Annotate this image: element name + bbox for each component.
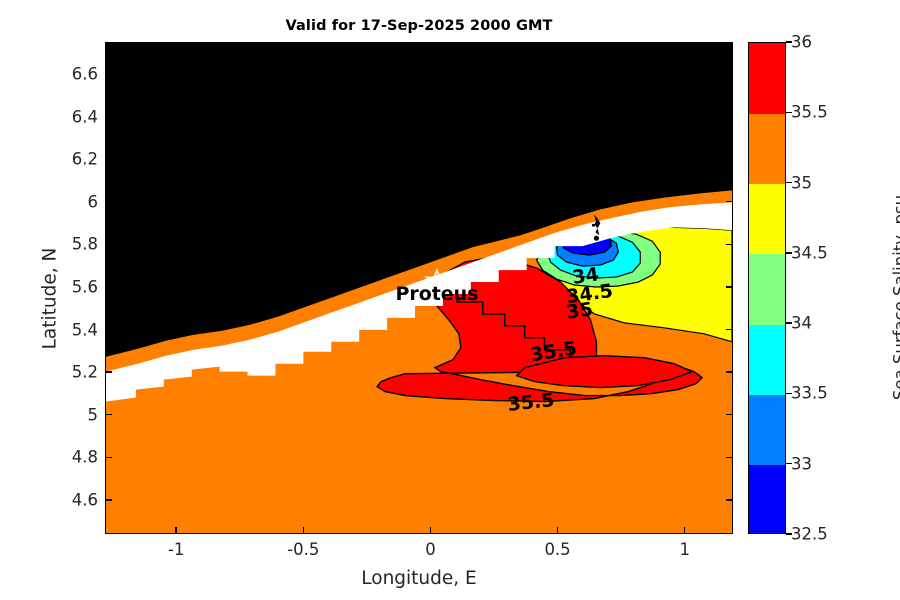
y-tick-mark-right xyxy=(726,329,733,330)
colorbar-band xyxy=(749,43,785,114)
y-tick-label: 6.4 xyxy=(72,107,98,126)
y-tick-mark xyxy=(105,201,112,202)
y-tick-labels: 4.64.855.25.45.65.866.26.46.6 xyxy=(0,0,98,600)
y-tick-label: 5.2 xyxy=(72,363,98,382)
colorbar-band xyxy=(749,113,785,184)
contour-label-35: 35 xyxy=(565,298,594,323)
x-tick-mark xyxy=(303,527,304,534)
x-tick-mark-top xyxy=(430,42,431,49)
map-plot-area[interactable]: Proteus 34 34.5 35 35.5 35.5 xyxy=(105,42,733,534)
x-tick-mark xyxy=(557,527,558,534)
y-tick-label: 6 xyxy=(88,192,99,211)
y-tick-label: 5.4 xyxy=(72,320,98,339)
colorbar-band xyxy=(749,394,785,465)
y-tick-mark xyxy=(105,286,112,287)
y-tick-mark xyxy=(105,414,112,415)
colorbar[interactable] xyxy=(748,42,786,534)
y-tick-mark-right xyxy=(726,457,733,458)
y-tick-mark-right xyxy=(726,73,733,74)
x-axis-label: Longitude, E xyxy=(105,568,733,589)
x-tick-mark xyxy=(684,527,685,534)
colorbar-tick-label: 34.5 xyxy=(791,243,828,262)
y-tick-mark-right xyxy=(726,244,733,245)
colorbar-tick-label: 36 xyxy=(791,33,812,52)
y-tick-mark-right xyxy=(726,201,733,202)
y-tick-label: 4.8 xyxy=(72,448,98,467)
x-tick-mark-top xyxy=(175,42,176,49)
station-label: Proteus xyxy=(396,283,479,305)
y-tick-mark-right xyxy=(726,499,733,500)
y-tick-label: 5.6 xyxy=(72,277,98,296)
y-tick-mark xyxy=(105,116,112,117)
x-tick-mark-top xyxy=(557,42,558,49)
colorbar-band xyxy=(749,184,785,255)
y-tick-mark xyxy=(105,244,112,245)
river-speck-2 xyxy=(595,218,598,221)
y-tick-mark xyxy=(105,158,112,159)
y-tick-mark-right xyxy=(726,158,733,159)
y-tick-mark-right xyxy=(726,286,733,287)
colorbar-band xyxy=(749,324,785,395)
x-tick-label: -1 xyxy=(168,540,184,559)
x-tick-label: 1 xyxy=(679,540,690,559)
y-tick-mark xyxy=(105,329,112,330)
river-speck-1 xyxy=(592,224,595,227)
x-tick-label: 0.5 xyxy=(544,540,570,559)
colorbar-tick-label: 33.5 xyxy=(791,384,828,403)
colorbar-tick-label: 35.5 xyxy=(791,103,828,122)
y-tick-mark-right xyxy=(726,116,733,117)
y-tick-mark-right xyxy=(726,371,733,372)
x-tick-mark xyxy=(175,527,176,534)
colorbar-tick-label: 34 xyxy=(791,314,812,333)
colorbar-title: Sea Surface Salinity, psu xyxy=(891,98,900,498)
colorbar-tick-label: 35 xyxy=(791,173,812,192)
y-tick-label: 5.8 xyxy=(72,235,98,254)
y-tick-label: 4.6 xyxy=(72,490,98,509)
x-tick-label: -0.5 xyxy=(287,540,319,559)
figure-root: Valid for 17-Sep-2025 2000 GMT Latitude,… xyxy=(0,0,900,600)
x-tick-mark-top xyxy=(684,42,685,49)
colorbar-band xyxy=(749,465,785,534)
y-tick-mark-right xyxy=(726,414,733,415)
colorbar-tick-label: 33 xyxy=(791,454,812,473)
y-tick-label: 5 xyxy=(88,405,99,424)
salinity-contour-map: Proteus 34 34.5 35 35.5 35.5 xyxy=(106,43,732,533)
x-tick-label: 0 xyxy=(425,540,436,559)
y-tick-label: 6.2 xyxy=(72,150,98,169)
x-tick-mark xyxy=(430,527,431,534)
river-mouth-dot xyxy=(594,236,599,241)
y-tick-mark xyxy=(105,73,112,74)
y-tick-mark xyxy=(105,371,112,372)
y-tick-mark xyxy=(105,499,112,500)
y-tick-mark xyxy=(105,457,112,458)
x-tick-mark-top xyxy=(303,42,304,49)
plot-title: Valid for 17-Sep-2025 2000 GMT xyxy=(105,18,733,34)
colorbar-tick-label: 32.5 xyxy=(791,525,828,544)
y-tick-label: 6.6 xyxy=(72,64,98,83)
colorbar-band xyxy=(749,254,785,325)
